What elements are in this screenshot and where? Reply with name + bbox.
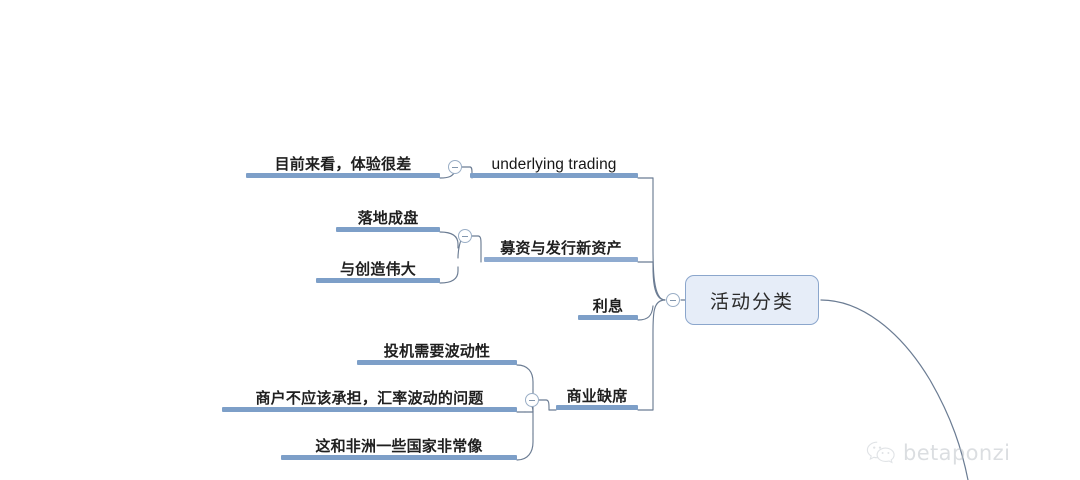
wechat-logo-icon [866, 440, 896, 466]
leaf-label-speculation: 投机需要波动性 [357, 344, 517, 359]
leaf-label-merchant: 商户不应该承担，汇率波动的问题 [222, 391, 517, 406]
leaf-node-creation[interactable]: 与创造伟大 [316, 255, 440, 283]
collapse-toggle-commercial-absence[interactable] [525, 393, 539, 407]
leaf-bar-creation [316, 278, 440, 283]
leaf-bar-landing [336, 227, 440, 232]
branch-bar-underlying-trading [470, 173, 638, 178]
branch-node-underlying-trading[interactable]: underlying trading [470, 150, 638, 178]
watermark: betaponzi [866, 440, 1010, 466]
branch-node-fundraising[interactable]: 募资与发行新资产 [484, 234, 638, 262]
mindmap-canvas: underlying trading 目前来看，体验很差 募资与发行新资产 落地… [0, 0, 1080, 480]
leaf-label-creation: 与创造伟大 [316, 262, 440, 277]
collapse-toggle-underlying-trading[interactable] [448, 160, 462, 174]
leaf-label-africa: 这和非洲一些国家非常像 [281, 439, 517, 454]
branch-label-interest: 利息 [578, 299, 638, 314]
collapse-toggle-root[interactable] [666, 293, 680, 307]
branch-node-interest[interactable]: 利息 [578, 292, 638, 320]
leaf-node-experience[interactable]: 目前来看，体验很差 [246, 150, 440, 178]
watermark-text: betaponzi [903, 441, 1010, 465]
leaf-bar-speculation [357, 360, 517, 365]
leaf-label-landing: 落地成盘 [336, 211, 440, 226]
branch-label-underlying-trading: underlying trading [470, 157, 638, 173]
branch-label-fundraising: 募资与发行新资产 [484, 241, 638, 256]
branch-label-commercial-absence: 商业缺席 [556, 389, 638, 404]
branch-node-commercial-absence[interactable]: 商业缺席 [556, 382, 638, 410]
branch-bar-commercial-absence [556, 405, 638, 410]
leaf-bar-africa [281, 455, 517, 460]
leaf-node-merchant[interactable]: 商户不应该承担，汇率波动的问题 [222, 384, 517, 412]
leaf-node-africa[interactable]: 这和非洲一些国家非常像 [281, 432, 517, 460]
leaf-node-landing[interactable]: 落地成盘 [336, 204, 440, 232]
leaf-node-speculation[interactable]: 投机需要波动性 [357, 337, 517, 365]
collapse-toggle-fundraising[interactable] [458, 229, 472, 243]
leaf-label-experience: 目前来看，体验很差 [246, 157, 440, 172]
leaf-bar-experience [246, 173, 440, 178]
leaf-bar-merchant [222, 407, 517, 412]
root-node-activity-category[interactable]: 活动分类 [685, 275, 819, 325]
branch-bar-interest [578, 315, 638, 320]
root-node-label: 活动分类 [710, 287, 794, 314]
branch-bar-fundraising [484, 257, 638, 262]
